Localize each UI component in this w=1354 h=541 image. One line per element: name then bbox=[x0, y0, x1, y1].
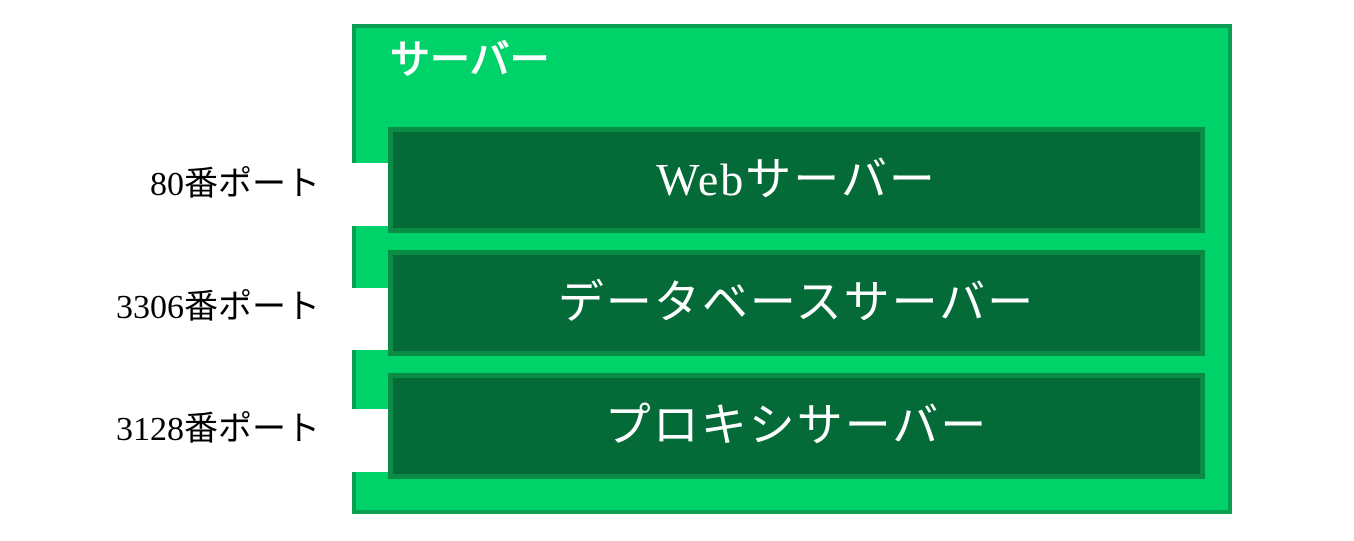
port-label-proxy-server: 3128番ポート bbox=[20, 413, 320, 447]
service-box-web-server: Webサーバー bbox=[388, 127, 1205, 233]
port-notch-1 bbox=[352, 163, 388, 226]
port-notch-3 bbox=[352, 409, 388, 472]
service-label-database-server: データベースサーバー bbox=[558, 280, 1035, 326]
service-label-web-server: Webサーバー bbox=[656, 157, 937, 203]
service-box-proxy-server: プロキシサーバー bbox=[388, 373, 1205, 479]
port-label-web-server: 80番ポート bbox=[20, 168, 320, 202]
service-label-proxy-server: プロキシサーバー bbox=[605, 403, 989, 449]
port-label-database-server: 3306番ポート bbox=[20, 291, 320, 325]
server-title: サーバー bbox=[390, 40, 550, 80]
diagram-canvas: サーバー Webサーバー データベースサーバー プロキシサーバー 80番ポート … bbox=[0, 0, 1354, 541]
service-box-database-server: データベースサーバー bbox=[388, 250, 1205, 356]
port-notch-2 bbox=[352, 288, 388, 350]
